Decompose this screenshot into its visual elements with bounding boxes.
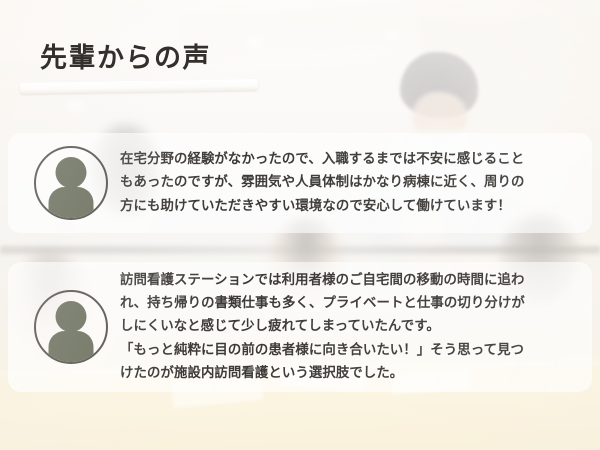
slide-canvas: 先輩からの声 在宅分野の経験がなかったので、入職するまでは不安に感じること もあ…: [0, 0, 600, 450]
avatar-body-shape: [49, 331, 94, 365]
person-avatar-icon: [34, 146, 108, 220]
testimonial-line: もあったのですが、雰囲気や人員体制はかなり病棟に近く、周りの: [120, 171, 578, 194]
testimonial-card: 在宅分野の経験がなかったので、入職するまでは不安に感じること もあったのですが、…: [8, 133, 592, 233]
title-underline-bar: [20, 79, 258, 94]
page-title-text: 先輩からの声: [40, 44, 211, 74]
testimonial-line: しにくいなと感じて少し疲れてしまっていたんです。: [120, 315, 578, 338]
testimonial-text: 在宅分野の経験がなかったので、入職するまでは不安に感じること もあったのですが、…: [120, 148, 592, 217]
page-title: 先輩からの声: [40, 44, 211, 74]
testimonial-line: 在宅分野の経験がなかったので、入職するまでは不安に感じること: [120, 148, 578, 171]
testimonial-text: 訪問看護ステーションでは利用者様のご自宅間の移動の時間に追わ れ、持ち帰りの書類…: [120, 269, 592, 384]
testimonial-line: けたのが施設内訪問看護という選択肢でした。: [120, 362, 578, 385]
testimonial-line: 「もっと純粋に目の前の患者様に向き合いたい！」そう思って見つ: [120, 339, 578, 362]
background-ceiling-beam: [179, 2, 469, 71]
background-downlight: [60, 98, 90, 114]
avatar-body-shape: [49, 187, 94, 221]
testimonial-line: 訪問看護ステーションでは利用者様のご自宅間の移動の時間に追わ: [120, 269, 578, 292]
avatar-head-shape: [56, 301, 87, 332]
testimonial-line: 方にも助けていただきやすい環境なので安心して働けています！: [120, 195, 578, 218]
testimonial-card: 訪問看護ステーションでは利用者様のご自宅間の移動の時間に追わ れ、持ち帰りの書類…: [8, 262, 592, 392]
testimonial-line: れ、持ち帰りの書類仕事も多く、プライベートと仕事の切り分けが: [120, 292, 578, 315]
background-seatback-band: [0, 246, 600, 254]
background-downlight: [242, 36, 268, 48]
background-person-head: [400, 52, 478, 118]
avatar-head-shape: [56, 157, 87, 188]
background-downlight: [380, 30, 404, 41]
person-avatar-icon: [34, 290, 108, 364]
